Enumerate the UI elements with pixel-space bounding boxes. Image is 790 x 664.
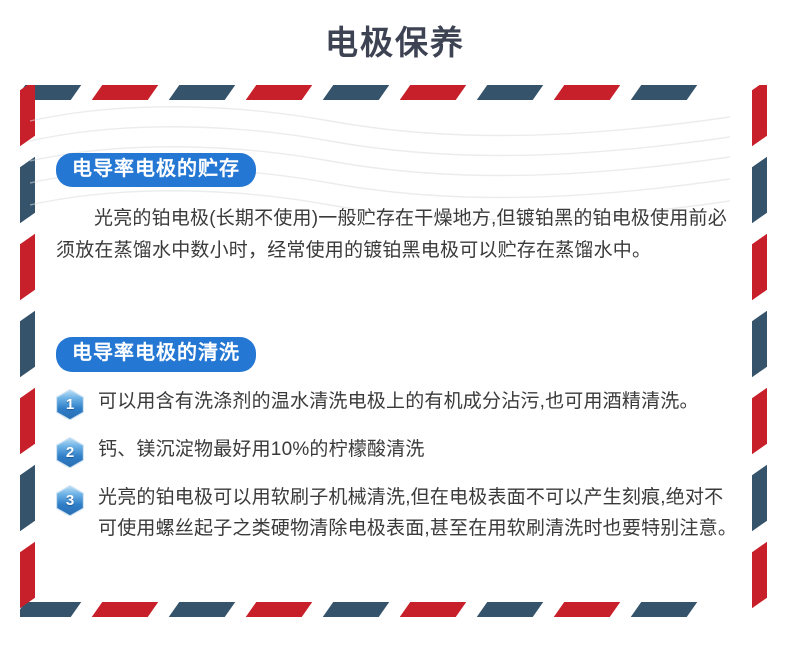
list-item: 2 钙、镁沉淀物最好用10%的柠檬酸清洗	[56, 434, 740, 468]
border-dash-red	[20, 542, 35, 609]
border-dash-blue	[477, 85, 544, 100]
border-dash-red	[554, 602, 621, 617]
page-title: 电极保养	[0, 0, 790, 70]
border-dash-red	[752, 85, 767, 146]
border-edge-right	[752, 85, 770, 620]
list-item-text: 光亮的铂电极可以用软刷子机械清洗,但在电极表面不可以产生刻痕,绝对不可使用螺丝起…	[98, 482, 738, 544]
border-dash-red	[752, 234, 767, 301]
border-dash-red	[92, 85, 159, 100]
border-edge-top	[20, 85, 770, 103]
list-item-number: 1	[56, 389, 84, 420]
content-card: 电导率电极的贮存 光亮的铂电极(长期不使用)一般贮存在干燥地方,但镀铂黑的铂电极…	[20, 85, 770, 620]
card-content: 电导率电极的贮存 光亮的铂电极(长期不使用)一般贮存在干燥地方,但镀铂黑的铂电极…	[56, 131, 740, 596]
border-dash-red	[20, 388, 35, 455]
border-edge-bottom	[20, 602, 770, 620]
border-dash-blue	[752, 157, 767, 224]
list-item-text: 可以用含有洗涤剂的温水清洗电极上的有机成分沾污,也可用酒精清洗。	[98, 386, 699, 417]
section-badge-cleaning: 电导率电极的清洗	[56, 337, 256, 371]
border-dash-blue	[752, 465, 767, 532]
border-dash-blue	[323, 602, 390, 617]
border-dash-blue	[477, 602, 544, 617]
border-dash-red	[20, 85, 35, 146]
border-edge-left	[20, 85, 38, 620]
cleaning-steps-list: 1 可以用含有洗涤剂的温水清洗电极上的有机成分沾污,也可用酒精清洗。 2 钙、镁…	[56, 386, 740, 544]
storage-paragraph: 光亮的铂电极(长期不使用)一般贮存在干燥地方,但镀铂黑的铂电极使用前必须放在蒸馏…	[56, 203, 736, 267]
list-item: 3 光亮的铂电极可以用软刷子机械清洗,但在电极表面不可以产生刻痕,绝对不可使用螺…	[56, 482, 740, 544]
border-dash-blue	[631, 85, 698, 100]
border-dash-red	[752, 542, 767, 609]
border-dash-red	[554, 85, 621, 100]
border-dash-red	[246, 602, 313, 617]
list-item-number: 2	[56, 437, 84, 468]
border-dash-red	[400, 85, 467, 100]
list-item: 1 可以用含有洗涤剂的温水清洗电极上的有机成分沾污,也可用酒精清洗。	[56, 386, 740, 420]
section-cleaning: 电导率电极的清洗	[56, 337, 740, 543]
section-badge-storage: 电导率电极的贮存	[56, 153, 256, 187]
border-dash-red	[752, 388, 767, 455]
border-dash-blue	[169, 85, 236, 100]
border-dash-red	[92, 602, 159, 617]
border-dash-blue	[169, 602, 236, 617]
border-dash-red	[246, 85, 313, 100]
hexagon-number-icon: 2	[56, 437, 84, 468]
border-dash-blue	[752, 311, 767, 378]
border-dash-blue	[323, 85, 390, 100]
section-storage: 电导率电极的贮存 光亮的铂电极(长期不使用)一般贮存在干燥地方,但镀铂黑的铂电极…	[56, 153, 740, 267]
border-dash-red	[400, 602, 467, 617]
list-item-number: 3	[56, 485, 84, 516]
border-dash-blue	[20, 311, 35, 378]
list-item-text: 钙、镁沉淀物最好用10%的柠檬酸清洗	[98, 434, 425, 465]
border-dash-blue	[20, 157, 35, 224]
border-dash-red	[20, 234, 35, 301]
hexagon-number-icon: 1	[56, 389, 84, 420]
border-dash-blue	[20, 465, 35, 532]
border-dash-blue	[631, 602, 698, 617]
hexagon-number-icon: 3	[56, 485, 84, 516]
